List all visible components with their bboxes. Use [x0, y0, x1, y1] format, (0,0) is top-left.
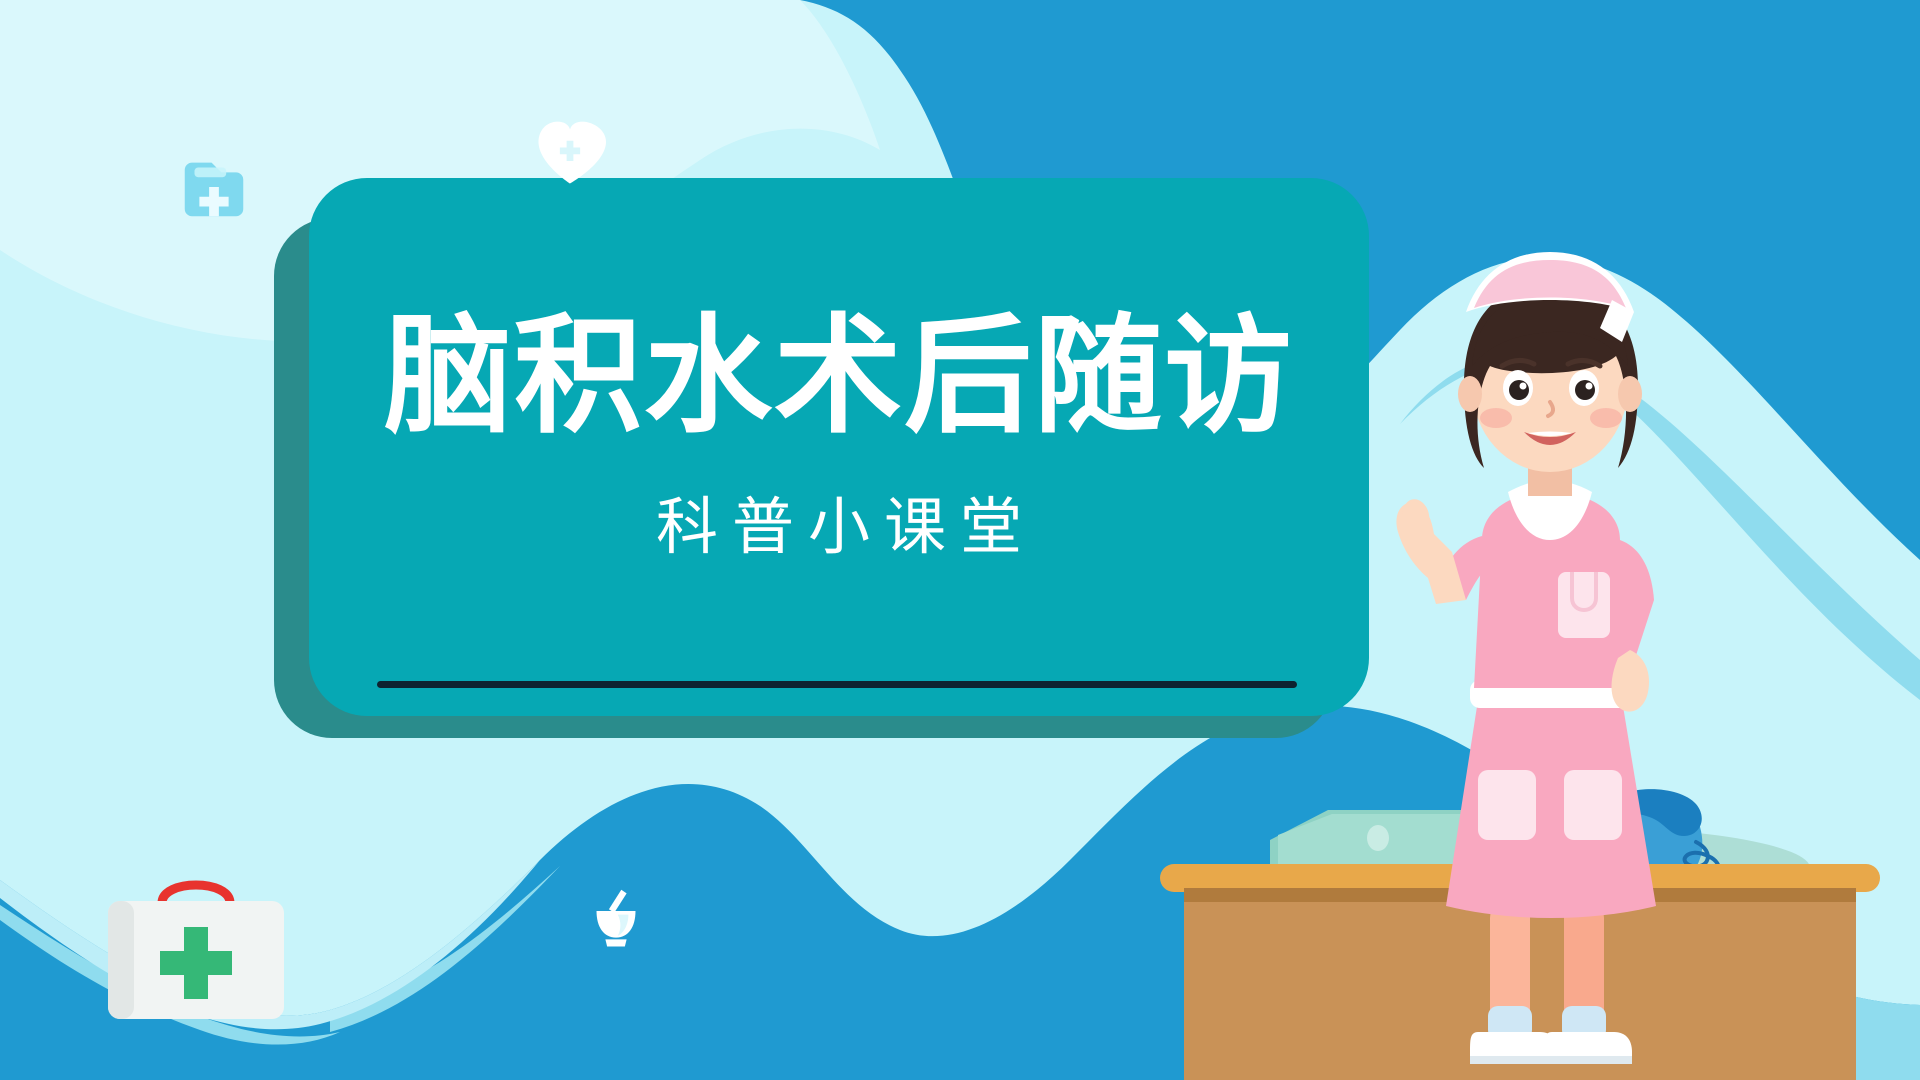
- office-scene: [1160, 180, 1920, 1080]
- page-title: 脑积水术后随访: [384, 308, 1294, 446]
- first-aid-kit-icon: [100, 865, 292, 1025]
- mortar-icon: [587, 888, 645, 950]
- slide-canvas: 脑积水术后随访 科普小课堂: [0, 0, 1920, 1080]
- page-subtitle: 科普小课堂: [642, 476, 1036, 566]
- medical-bag-icon: [175, 148, 253, 226]
- title-underline-rule: [377, 681, 1297, 688]
- heart-plus-icon: [534, 116, 606, 188]
